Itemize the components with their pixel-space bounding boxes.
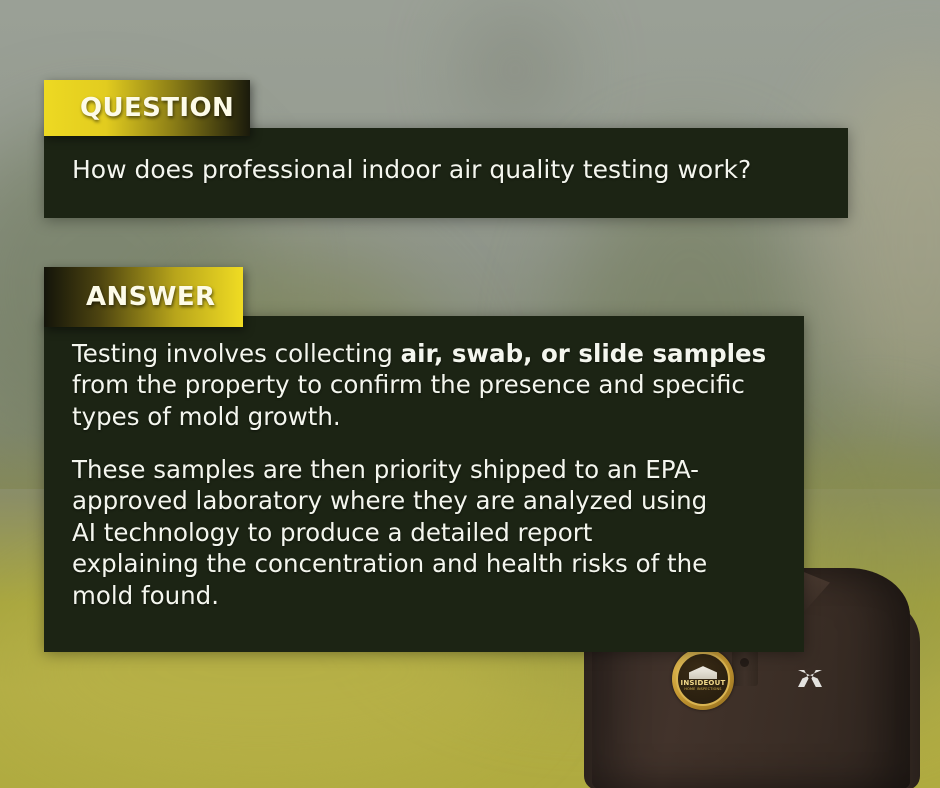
question-panel: How does professional indoor air quality…	[44, 128, 848, 218]
question-text: How does professional indoor air quality…	[72, 154, 830, 185]
house-icon	[689, 666, 717, 679]
answer-p1-lead: Testing involves collecting	[72, 339, 401, 368]
answer-panel: Testing involves collecting air, swab, o…	[44, 316, 804, 652]
answer-body: Testing involves collecting air, swab, o…	[72, 338, 784, 611]
badge-tagline-text: HOME INSPECTIONS	[684, 688, 721, 692]
question-banner-label: QUESTION	[80, 93, 234, 123]
question-banner: QUESTION	[44, 80, 250, 136]
answer-paragraph-2: These samples are then priority shipped …	[72, 454, 722, 611]
answer-banner-label: ANSWER	[86, 282, 215, 312]
answer-p1-emphasis: air, swab, or slide samples	[401, 339, 767, 368]
badge-inner: INSIDEOUT HOME INSPECTIONS	[676, 652, 730, 706]
answer-p1-tail: from the property to confirm the presenc…	[72, 370, 745, 430]
social-qa-graphic: INSIDEOUT HOME INSPECTIONS How does prof…	[0, 0, 940, 788]
answer-paragraph-1: Testing involves collecting air, swab, o…	[72, 338, 784, 432]
company-logo-badge-icon: INSIDEOUT HOME INSPECTIONS	[672, 648, 734, 710]
badge-brand-text: INSIDEOUT	[681, 680, 726, 687]
answer-banner: ANSWER	[44, 267, 243, 327]
shirt-button	[740, 658, 749, 667]
background-blur-shape	[470, 10, 560, 130]
